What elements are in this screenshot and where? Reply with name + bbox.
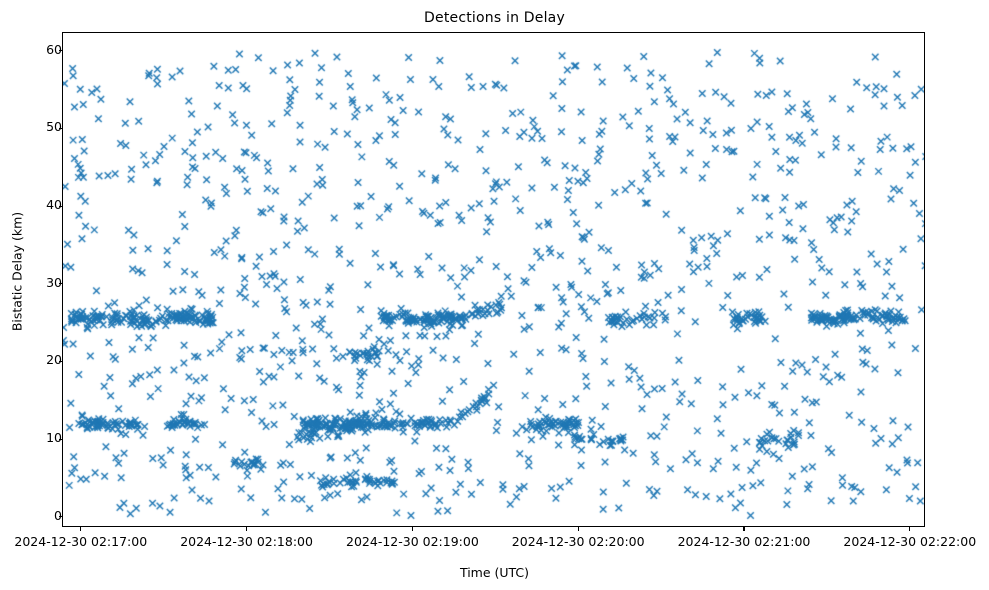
y-tick-label: 50: [46, 119, 62, 134]
x-tick-label: 2024-12-30 02:20:00: [512, 534, 645, 549]
x-tick-mark: [578, 527, 579, 531]
chart-title: Detections in Delay: [0, 10, 989, 26]
x-tick-label: 2024-12-30 02:17:00: [14, 534, 147, 549]
y-tick-label: 0: [54, 508, 62, 523]
y-tick-label: 10: [46, 430, 62, 445]
y-tick-label: 40: [46, 197, 62, 212]
y-axis-label: Bistatic Delay (km): [10, 157, 25, 387]
x-tick-label: 2024-12-30 02:22:00: [843, 534, 976, 549]
plot-axes-area: [62, 32, 925, 527]
x-tick-label: 2024-12-30 02:21:00: [678, 534, 811, 549]
x-tick-mark: [743, 527, 744, 531]
y-tick-label: 60: [46, 42, 62, 57]
x-tick-mark: [909, 527, 910, 531]
y-tick-label: 20: [46, 352, 62, 367]
x-axis-label: Time (UTC): [0, 565, 989, 580]
y-tick-label: 30: [46, 275, 62, 290]
x-tick-label: 2024-12-30 02:18:00: [180, 534, 313, 549]
x-tick-mark: [80, 527, 81, 531]
matplotlib-figure: Detections in Delay 0102030405060 2024-1…: [0, 0, 989, 590]
scatter-plot-canvas: [63, 33, 925, 527]
x-tick-mark: [412, 527, 413, 531]
x-tick-mark: [246, 527, 247, 531]
x-tick-label: 2024-12-30 02:19:00: [346, 534, 479, 549]
